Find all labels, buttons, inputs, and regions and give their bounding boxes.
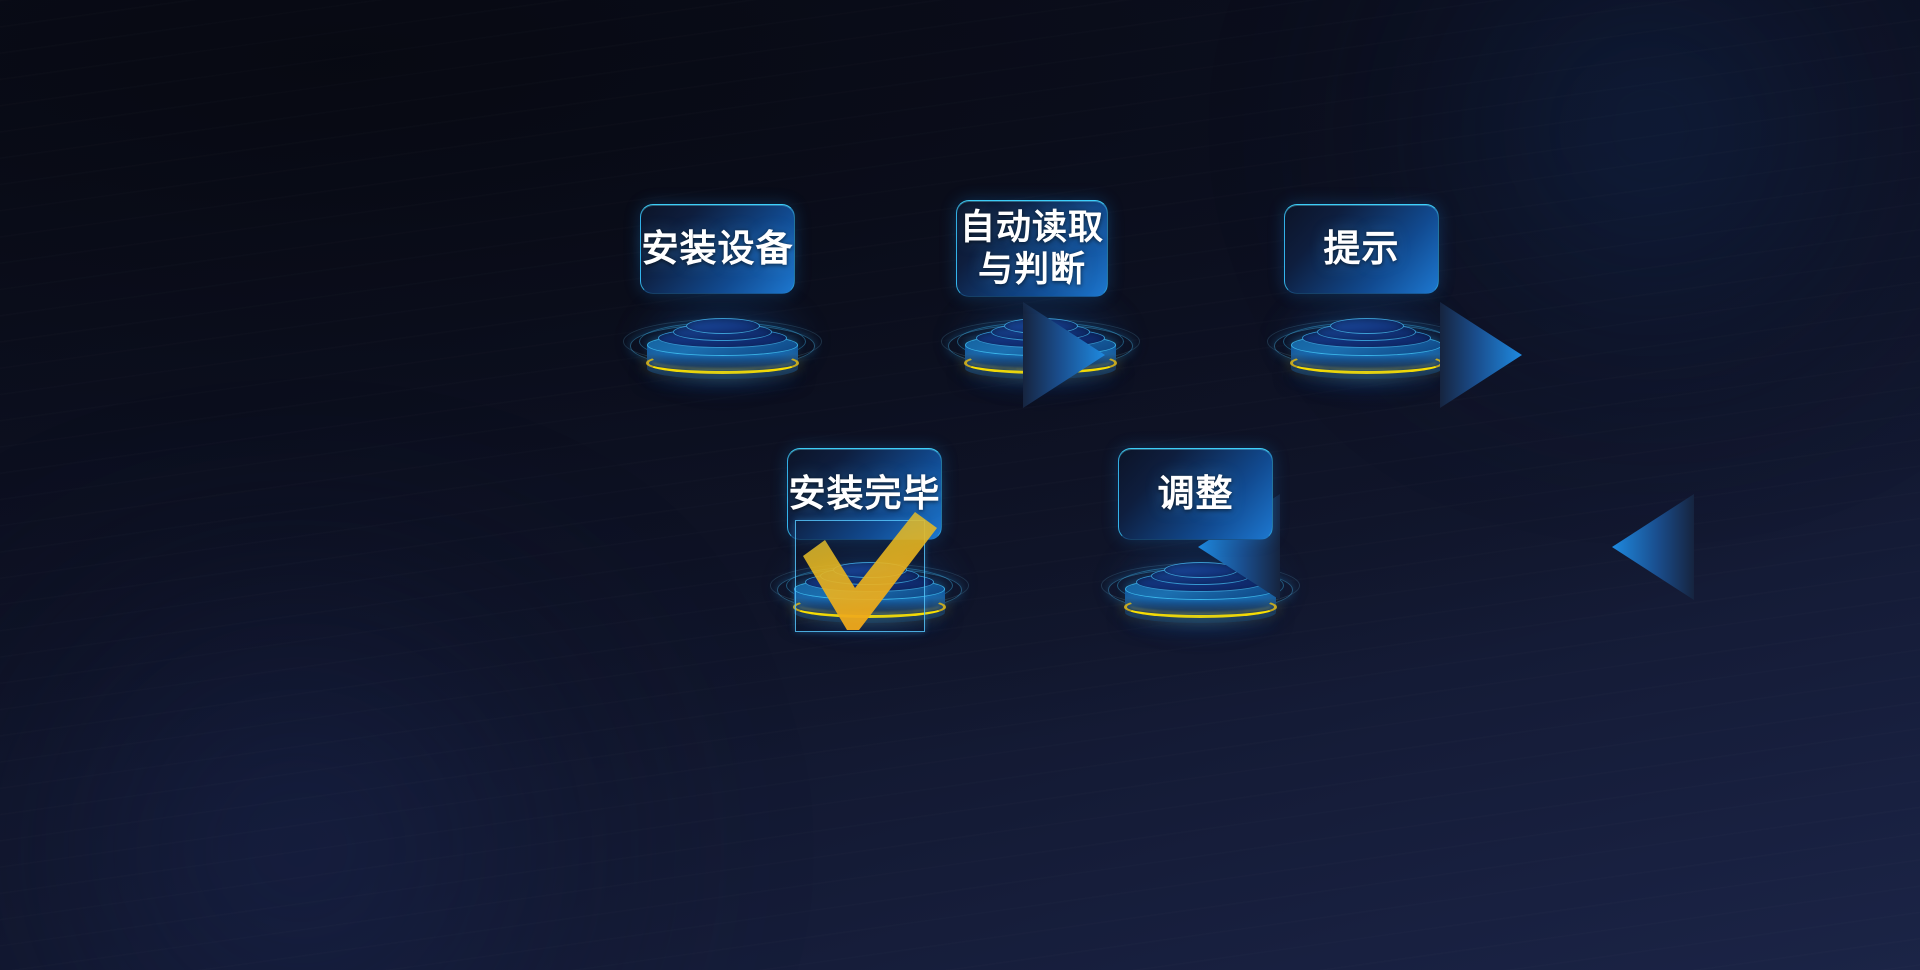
podium-prompt bbox=[1274, 292, 1459, 382]
flow-card-auto-read[interactable]: 自动读取 与判断 bbox=[956, 200, 1108, 297]
background-glow-bottom-left bbox=[0, 470, 800, 970]
flow-card-install-device[interactable]: 安装设备 bbox=[640, 204, 795, 294]
podium-shadow bbox=[645, 369, 800, 385]
flow-card-label: 安装设备 bbox=[642, 227, 794, 271]
podium-install-device bbox=[630, 292, 815, 382]
arrow-right-icon-2 bbox=[1440, 300, 1522, 410]
flow-card-label: 自动读取 与判断 bbox=[960, 207, 1104, 291]
arrow-right-icon-1 bbox=[1023, 300, 1105, 410]
flow-card-label: 调整 bbox=[1158, 472, 1234, 516]
flow-card-prompt[interactable]: 提示 bbox=[1284, 204, 1439, 294]
podium-install-finished bbox=[777, 536, 962, 626]
arrow-left-icon-2 bbox=[1612, 492, 1694, 602]
flow-card-label: 提示 bbox=[1324, 227, 1400, 271]
flow-node-install-device[interactable]: 安装设备 bbox=[628, 200, 833, 380]
flow-card-install-finished[interactable]: 安装完毕 bbox=[787, 448, 942, 540]
flow-card-adjust[interactable]: 调整 bbox=[1118, 448, 1273, 540]
podium-shadow bbox=[1123, 613, 1278, 629]
podium-shadow bbox=[1289, 369, 1444, 385]
flow-diagram-canvas: 安装设备 bbox=[0, 0, 1920, 970]
podium-shadow bbox=[792, 613, 947, 629]
flow-card-label: 安装完毕 bbox=[789, 472, 941, 516]
flow-node-install-finished[interactable]: 安装完毕 bbox=[775, 444, 980, 626]
